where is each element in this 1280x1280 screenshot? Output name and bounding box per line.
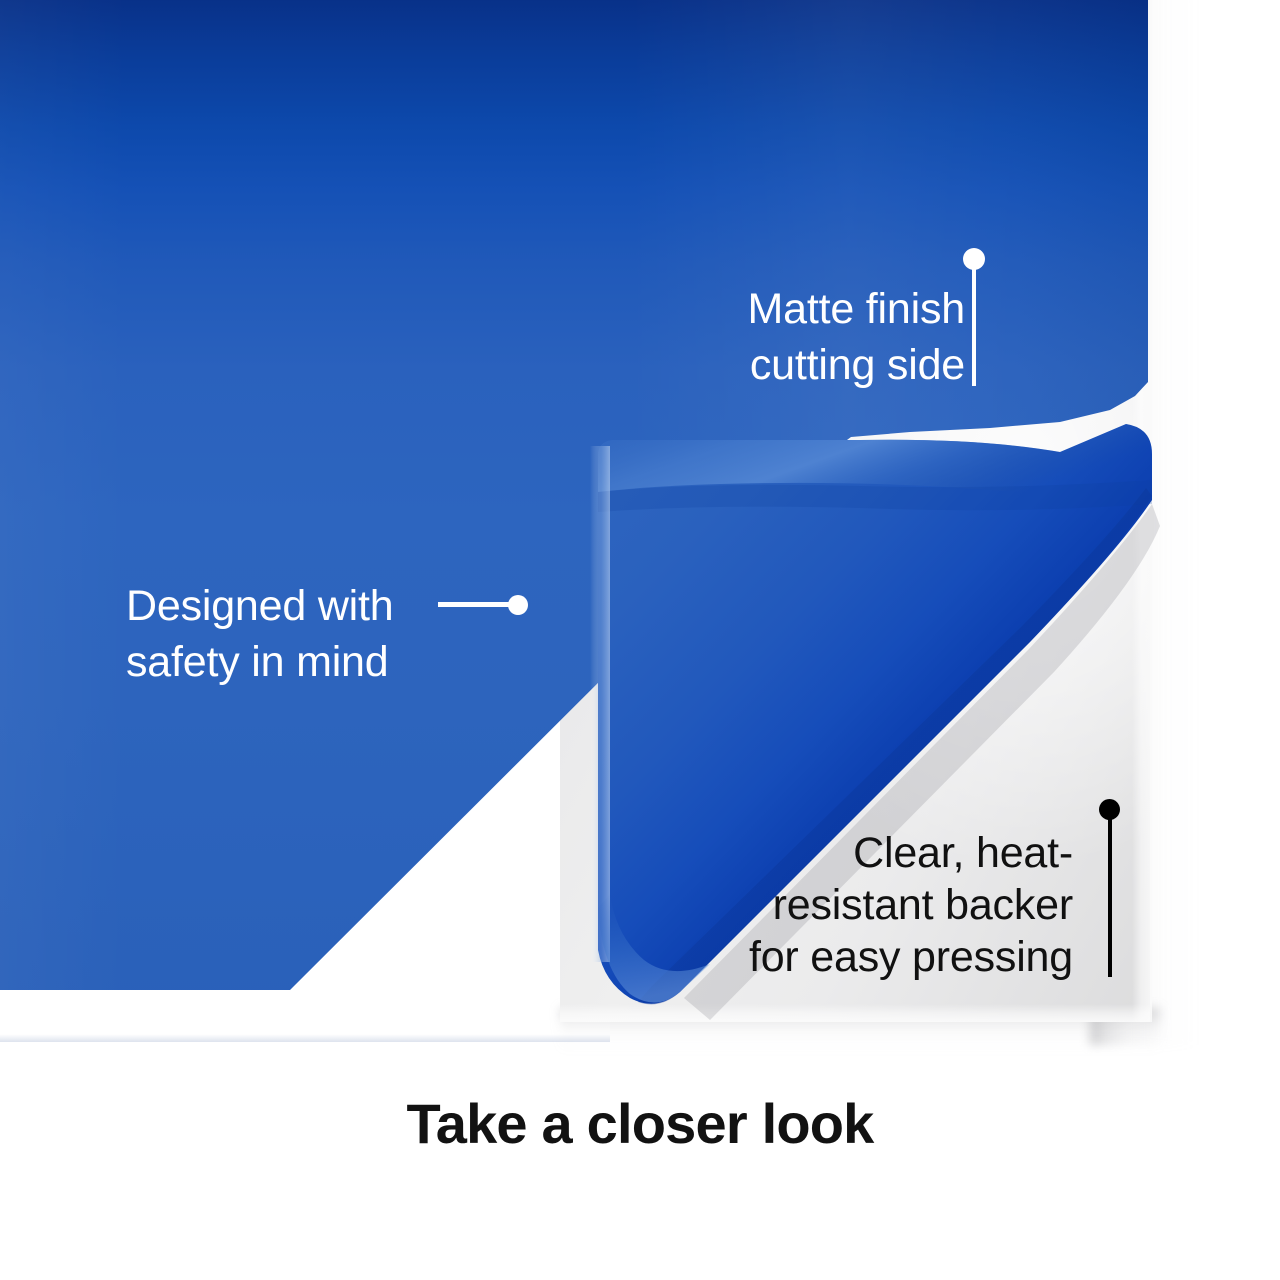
callout-backer-line3: for easy pressing bbox=[718, 931, 1073, 983]
callout-clear-backer: Clear, heat- resistant backer for easy p… bbox=[718, 827, 1073, 983]
callout-matte-finish: Matte finish cutting side bbox=[697, 281, 965, 393]
callout-backer-pin-icon bbox=[1099, 799, 1123, 979]
pin-line-icon bbox=[438, 602, 516, 607]
callout-safety-line1: Designed with bbox=[126, 578, 426, 634]
callout-matte-line2: cutting side bbox=[697, 337, 965, 393]
pin-line-icon bbox=[972, 259, 976, 386]
flap-roll-highlight bbox=[598, 424, 1152, 493]
callout-backer-line2: resistant backer bbox=[718, 879, 1073, 931]
callout-matte-pin-icon bbox=[963, 248, 987, 388]
pin-dot-icon bbox=[508, 595, 528, 615]
peeled-corner-wrap bbox=[0, 0, 1280, 1075]
product-photo: Matte finish cutting side Designed with … bbox=[0, 0, 1280, 1075]
caption-text: Take a closer look bbox=[0, 1086, 1280, 1162]
callout-matte-line1: Matte finish bbox=[697, 281, 965, 337]
caption-block: Take a closer look bbox=[0, 1086, 1280, 1162]
callout-safety-line2: safety in mind bbox=[126, 634, 426, 690]
callout-safety-pin-icon bbox=[438, 595, 530, 617]
callout-safety: Designed with safety in mind bbox=[126, 578, 426, 690]
product-image-stage: Matte finish cutting side Designed with … bbox=[0, 0, 1280, 1280]
callout-backer-line1: Clear, heat- bbox=[718, 827, 1073, 879]
flap-left-edge-sheen bbox=[590, 446, 610, 962]
pin-line-icon bbox=[1108, 809, 1112, 977]
